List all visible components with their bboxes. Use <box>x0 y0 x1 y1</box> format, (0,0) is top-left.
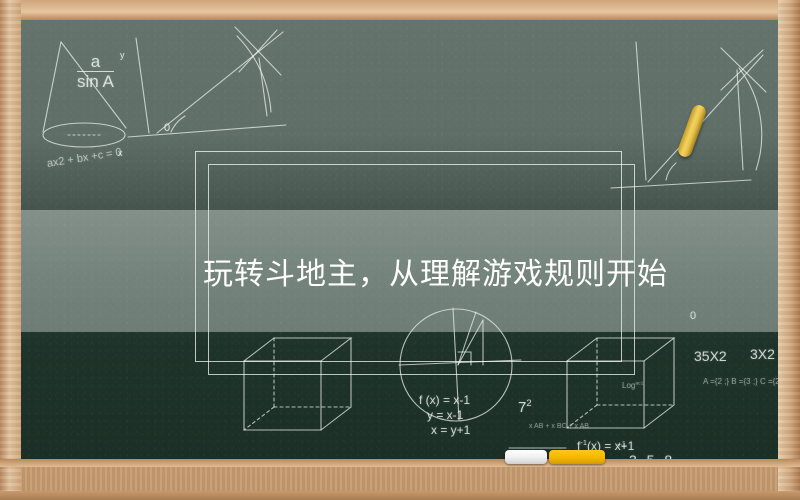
axis-label-x-topleft: x <box>118 148 123 158</box>
frame-top-rail <box>0 0 800 20</box>
angle-cross-2 <box>239 30 277 72</box>
tr-cross-2 <box>721 50 763 90</box>
angle-label-topleft: 0 <box>164 122 170 134</box>
axis-y-line <box>136 38 149 133</box>
sum-carry: +1 <box>617 440 626 449</box>
sum-row-1: 3 5 8 <box>629 452 675 459</box>
multiplication-35x2: 35X2 <box>694 348 727 364</box>
frame-left-rail <box>0 0 21 500</box>
axis-label-y-topleft: y <box>120 50 125 60</box>
cone-left-edge <box>43 42 61 132</box>
cube2-hidden-edge-3 <box>567 405 597 428</box>
white-chalk-piece <box>505 450 547 464</box>
function-line-2: y = x-1 <box>427 408 463 422</box>
yellow-chalk-piece <box>549 450 605 464</box>
quadratic-equation: ax2 + bx +c = 0 <box>46 146 122 170</box>
square-seven: 72 <box>518 398 532 416</box>
function-line-3: x = y+1 <box>431 423 470 437</box>
log-label: Logac1 <box>622 381 643 390</box>
tr-angle-ray <box>648 55 763 182</box>
tr-angle-arc <box>666 163 676 180</box>
page-title: 玩转斗地主，从理解游戏规则开始 <box>21 210 778 332</box>
set-formula: A ={2 ;} B ={3 ;} C ={2 ;} <box>703 377 778 386</box>
angle-arc-large <box>237 36 271 112</box>
angle-ray <box>157 32 283 133</box>
gold-chalk-stick <box>676 103 708 159</box>
multiplication-3x2: 3X2 <box>750 346 775 362</box>
cone-right-edge <box>61 42 126 128</box>
angle-arc-small <box>171 116 185 132</box>
function-line-1: f (x) = x-1 <box>419 393 470 407</box>
fraction-a-over-sinA-topleft: a sin A <box>77 53 114 92</box>
tiny-formula-bottomleft: x AB + x BC + x AB <box>529 423 589 430</box>
angle-cross-1 <box>235 27 281 75</box>
axis-x-line <box>128 125 286 137</box>
tr-cross-1 <box>721 48 766 92</box>
tr-drop-line <box>737 70 743 170</box>
tr-arc-large <box>739 68 762 170</box>
chalk-tray-edge <box>0 459 800 467</box>
cube-hidden-edge-3 <box>244 407 274 430</box>
frame-right-rail <box>778 0 800 500</box>
chalk-tray-lip <box>0 491 800 500</box>
angle-drop-line <box>259 58 267 116</box>
tr-axis-vertical <box>636 42 646 180</box>
cube2-right-face <box>644 338 674 428</box>
chalkboard-surface: a sin A y x 0 ax2 + bx +c = 0 0 f (x) = … <box>21 20 778 459</box>
chalkboard-banner: a sin A y x 0 ax2 + bx +c = 0 0 f (x) = … <box>0 0 800 500</box>
cone-base-ellipse <box>43 123 125 147</box>
